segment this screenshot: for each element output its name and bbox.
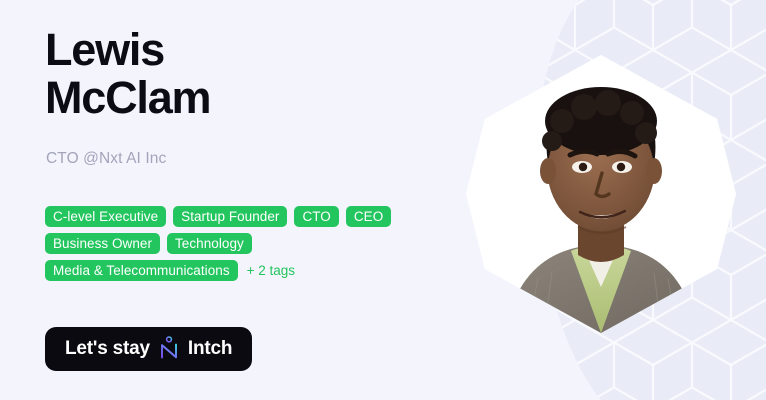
profile-card: LewisMcClam CTO @Nxt AI Inc C-level Exec… (0, 0, 766, 400)
page-title: LewisMcClam (45, 26, 210, 121)
profile-headline: CTO @Nxt AI Inc (46, 150, 166, 168)
tag-list: C-level Executive Startup Founder CTO CE… (45, 206, 445, 281)
tag-item[interactable]: CTO (294, 206, 338, 227)
profile-content: LewisMcClam CTO @Nxt AI Inc C-level Exec… (45, 0, 465, 400)
cta-label-prefix: Let's stay (65, 338, 150, 360)
intch-logo-icon (158, 336, 180, 363)
avatar (466, 55, 736, 333)
tag-item[interactable]: Technology (167, 233, 252, 254)
tag-item[interactable]: Business Owner (45, 233, 160, 254)
tag-item[interactable]: C-level Executive (45, 206, 166, 227)
name-line-2: McClam (45, 72, 210, 123)
tag-item[interactable]: Media & Telecommunications (45, 260, 238, 281)
tag-item[interactable]: Startup Founder (173, 206, 287, 227)
name-line-1: Lewis (45, 24, 164, 75)
lets-stay-intch-button[interactable]: Let's stay Intch (45, 327, 252, 371)
tag-item[interactable]: CEO (346, 206, 391, 227)
more-tags-label[interactable]: + 2 tags (247, 260, 295, 281)
avatar-hexagon-frame (466, 55, 736, 333)
cta-label-suffix: Intch (188, 338, 232, 360)
